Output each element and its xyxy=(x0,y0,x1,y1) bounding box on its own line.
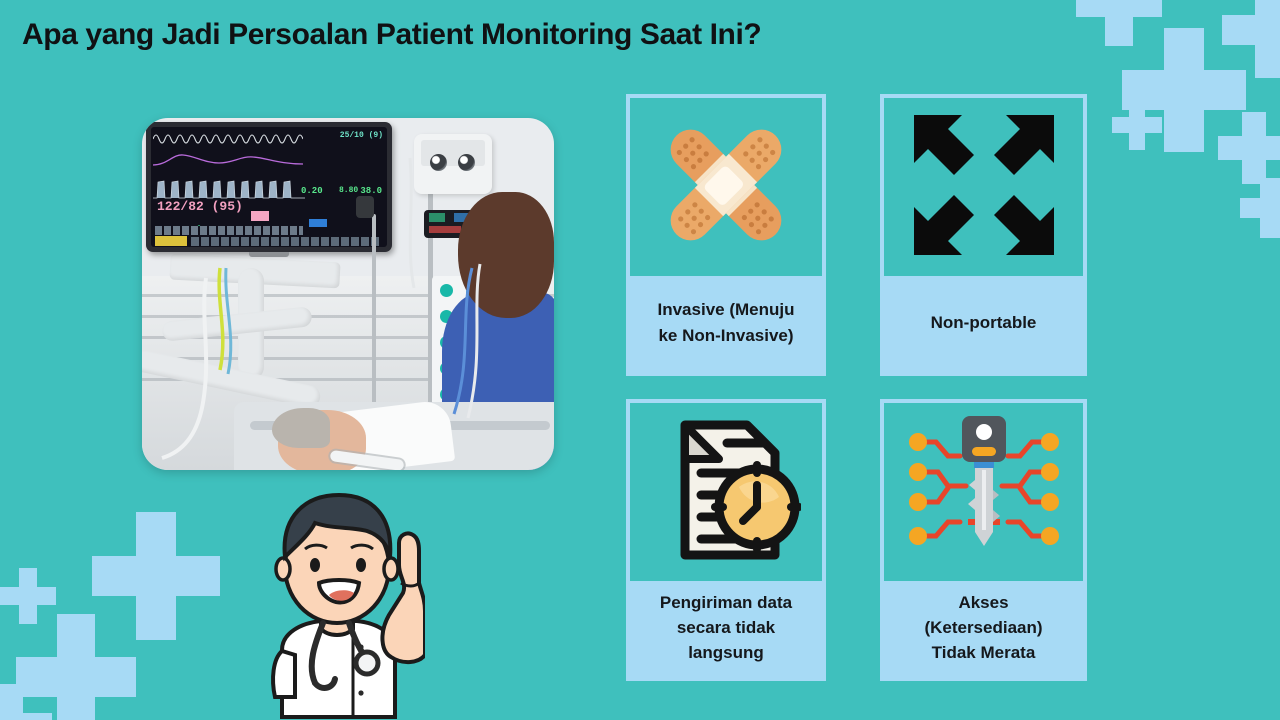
card-label: Invasive (Menuju ke Non-Invasive) xyxy=(652,276,801,372)
decorative-plus-icon xyxy=(1112,100,1162,150)
crossed-bandages-icon xyxy=(648,107,804,268)
page-title: Apa yang Jadi Persoalan Patient Monitori… xyxy=(22,18,761,52)
card-icon-area xyxy=(630,403,822,581)
card-icon-area xyxy=(884,98,1083,276)
cartoon-doctor xyxy=(249,487,425,720)
digital-key-circuit-icon xyxy=(904,414,1064,571)
problem-card-invasive[interactable]: Invasive (Menuju ke Non-Invasive) xyxy=(626,94,826,376)
card-icon-area xyxy=(884,403,1083,581)
card-label: Non-portable xyxy=(925,276,1043,372)
document-clock-icon xyxy=(651,415,801,570)
decorative-plus-icon xyxy=(1222,0,1280,78)
problem-card-uneven-access[interactable]: Akses (Ketersediaan) Tidak Merata xyxy=(880,399,1087,681)
problem-card-indirect-transfer[interactable]: Pengiriman data secara tidak langsung xyxy=(626,399,826,681)
decorative-plus-icon xyxy=(1240,178,1280,238)
card-label: Pengiriman data secara tidak langsung xyxy=(654,581,798,677)
card-icon-area xyxy=(630,98,822,276)
icu-photo: 122/82 (95) 25/10 (9) 0.20 8.80 38.0 xyxy=(142,118,554,470)
decorative-plus-icon xyxy=(0,684,52,720)
problem-card-non-portable[interactable]: Non-portable xyxy=(880,94,1087,376)
card-label: Akses (Ketersediaan) Tidak Merata xyxy=(918,581,1048,677)
slide-canvas: Apa yang Jadi Persoalan Patient Monitori… xyxy=(0,0,1280,720)
decorative-plus-icon xyxy=(1218,112,1280,184)
expand-arrows-icon xyxy=(908,109,1060,266)
